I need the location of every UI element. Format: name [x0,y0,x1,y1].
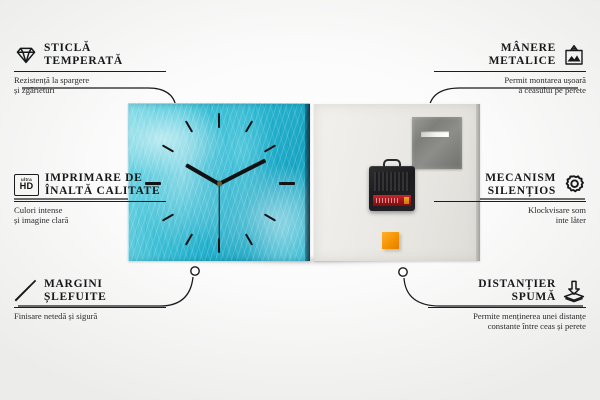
foam-spacer-part [382,232,399,249]
feature-tempered-glass: STICLĂ TEMPERATĂ Rezistență la spargere … [14,42,166,96]
feature-header: STICLĂ TEMPERATĂ [14,42,166,67]
feature-divider [14,201,166,202]
feature-divider [14,71,166,72]
diagonal-lines-icon [14,279,38,303]
feature-header: MARGINI ȘLEFUITE [14,278,166,303]
clock-marker [245,233,253,245]
feature-divider [434,201,586,202]
feature-header: MECANISM SILENȚIOS [434,172,586,197]
picture-frame-hanger-icon [562,43,586,67]
product-image [128,103,480,269]
clock-marker [245,120,253,132]
feature-foam-spacer: DISTANȚIER SPUMĂ Permite menținerea unei… [428,278,586,332]
diamond-icon [14,43,38,67]
feature-description: Rezistență la spargere și zgârieturi [14,75,166,96]
feature-title: STICLĂ TEMPERATĂ [44,42,123,67]
feature-divider [434,71,586,72]
clock-center-cap [217,181,222,186]
feature-description: Klockvisare som inte låter [434,205,586,226]
feature-title: IMPRIMARE DE ÎNALTĂ CALITATE [45,172,160,197]
feature-polished-edges: MARGINI ȘLEFUITE Finisare netedă și sigu… [14,278,166,321]
feature-silent-mechanism: MECANISM SILENȚIOS Klockvisare som inte … [434,172,586,226]
feature-title: MECANISM SILENȚIOS [485,172,556,197]
feature-title: MÂNERE METALICE [489,42,556,67]
infographic-canvas: STICLĂ TEMPERATĂ Rezistență la spargere … [0,0,600,400]
clock-second-hand [218,184,219,246]
clock-marker [264,213,276,221]
clock-hour-hand [185,163,220,185]
feature-header: ultra HD IMPRIMARE DE ÎNALTĂ CALITATE [14,172,166,197]
clock-marker [264,144,276,152]
clock-marker [279,182,295,185]
mechanism-loop [383,159,401,168]
feature-description: Culori intense și imagine clară [14,205,166,226]
feature-description: Permit montarea ușoară a ceasului pe per… [434,75,586,96]
clock-marker [185,233,193,245]
feature-divider [428,307,586,308]
feature-title: MARGINI ȘLEFUITE [44,278,106,303]
arrow-down-stack-icon [562,279,586,303]
mechanism-grill [374,172,410,191]
clock-marker [162,144,174,152]
feature-title: DISTANȚIER SPUMĂ [478,278,556,303]
hanger-slot [421,131,449,137]
feature-divider [14,307,166,308]
battery [373,195,411,206]
clock-marker [218,113,220,128]
clock-marker [185,120,193,132]
clock-minute-hand [218,159,266,186]
ultra-hd-icon: ultra HD [14,174,39,196]
battery-terminal [404,197,409,204]
battery-label [376,198,400,203]
glass-edge [305,104,310,261]
metal-hanger [412,117,462,169]
clock-mechanism [369,166,415,211]
feature-metal-handles: MÂNERE METALICE Permit montarea ușoară a… [434,42,586,96]
feature-header: DISTANȚIER SPUMĂ [428,278,586,303]
gear-icon [562,173,586,197]
feature-high-quality-print: ultra HD IMPRIMARE DE ÎNALTĂ CALITATE Cu… [14,172,166,226]
feature-description: Permite menținerea unei distanțe constan… [428,311,586,332]
feature-header: MÂNERE METALICE [434,42,586,67]
feature-description: Finisare netedă și sigură [14,311,166,321]
